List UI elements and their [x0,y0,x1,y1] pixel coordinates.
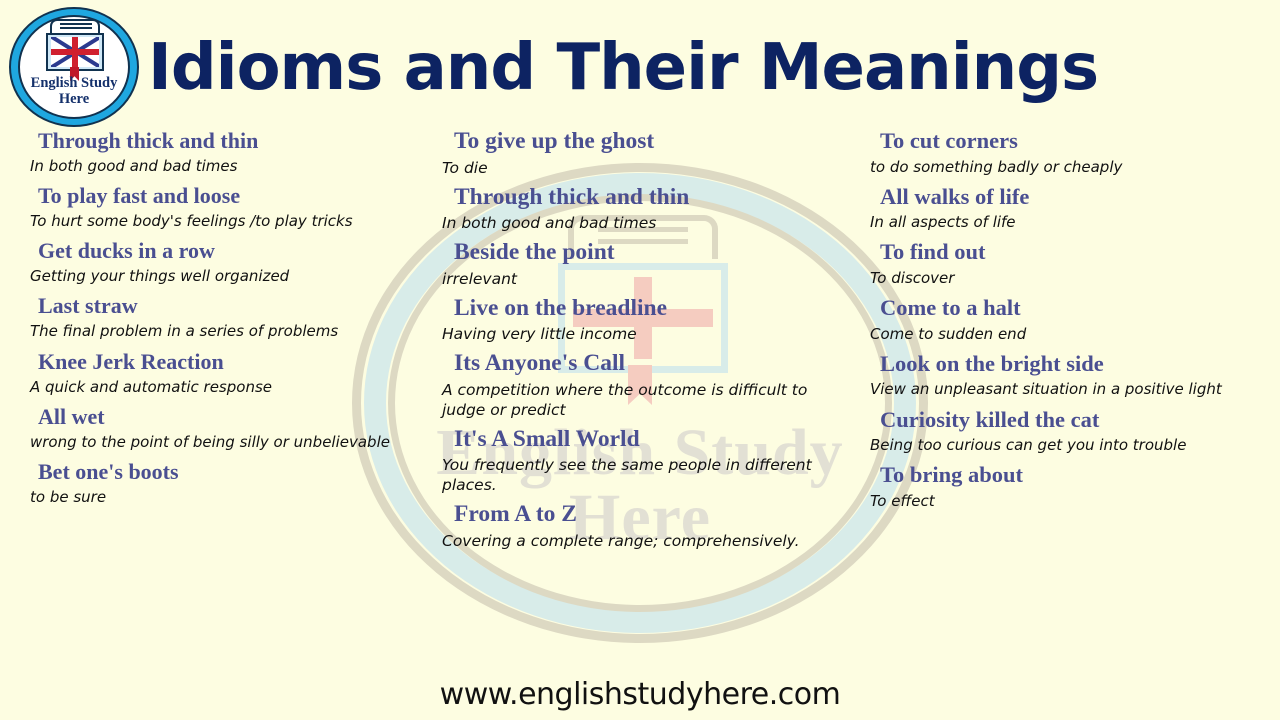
idiom-term: Bet one's boots [30,459,424,485]
page-title: Idioms and Their Meanings [148,36,1098,100]
idiom-entry: Get ducks in a rowGetting your things we… [30,238,424,291]
idiom-entry: Knee Jerk ReactionA quick and automatic … [30,349,424,402]
idiom-term: All wet [30,404,424,430]
idiom-meaning: View an unpleasant situation in a positi… [870,377,1274,404]
idiom-term: Get ducks in a row [30,238,424,264]
idiom-column-1: Through thick and thinIn both good and b… [0,128,430,673]
idiom-term: To bring about [870,462,1274,489]
idiom-meaning: To hurt some body's feelings /to play tr… [30,209,424,236]
idiom-meaning: To effect [870,489,1274,516]
footer-website[interactable]: www.englishstudyhere.com [0,677,1280,712]
idiom-term: Beside the point [442,239,854,267]
idiom-term: Last straw [30,293,424,319]
idiom-term: It's A Small World [442,426,854,454]
idiom-meaning: In both good and bad times [30,154,424,181]
idiom-meaning: To discover [870,266,1274,293]
book-page-line [60,23,92,25]
idiom-meaning: You frequently see the same people in di… [442,453,854,501]
header: English Study Here Idioms and Their Mean… [0,0,1280,128]
book-cover [50,19,100,33]
idiom-meaning: to do something badly or cheaply [870,155,1274,182]
idiom-meaning: A competition where the outcome is diffi… [442,378,854,426]
idiom-entry: To give up the ghostTo die [442,128,854,184]
idiom-meaning: irrelevant [442,267,854,295]
idiom-term: Come to a halt [870,295,1274,322]
idiom-entry: Live on the breadlineHaving very little … [442,295,854,351]
idiom-meaning: To die [442,156,854,184]
idiom-term: Through thick and thin [30,128,424,154]
idiom-entry: All wetwrong to the point of being silly… [30,404,424,457]
logo-brand-line1: English Study [31,75,118,91]
idiom-entry: Its Anyone's CallA competition where the… [442,350,854,425]
idiom-term: To play fast and loose [30,183,424,209]
logo-brand-line2: Here [8,92,140,108]
idiom-term: All walks of life [870,184,1274,211]
idiom-entry: Last strawThe final problem in a series … [30,293,424,346]
book-page-line [60,27,92,29]
idiom-entry: Beside the pointirrelevant [442,239,854,295]
idiom-entry: From A to ZCovering a complete range; co… [442,501,854,557]
idiom-meaning: Being too curious can get you into troub… [870,433,1274,460]
idiom-entry: To find outTo discover [870,239,1274,293]
idiom-columns: Through thick and thinIn both good and b… [0,128,1280,673]
idiom-meaning: Getting your things well organized [30,264,424,291]
poster-root: English Study Here Engl [0,0,1280,720]
idiom-term: Look on the bright side [870,351,1274,378]
idiom-entry: Through thick and thinIn both good and b… [442,184,854,240]
flag-vertical-cross [72,37,78,67]
idiom-term: Curiosity killed the cat [870,407,1274,434]
idiom-meaning: to be sure [30,485,424,512]
idiom-term: Live on the breadline [442,295,854,323]
idiom-column-3: To cut cornersto do something badly or c… [860,128,1280,673]
idiom-entry: Come to a haltCome to sudden end [870,295,1274,349]
idiom-term: Knee Jerk Reaction [30,349,424,375]
idiom-term: Through thick and thin [442,184,854,212]
idiom-term: To find out [870,239,1274,266]
idiom-term: Its Anyone's Call [442,350,854,378]
idiom-term: From A to Z [442,501,854,529]
idiom-meaning: Having very little income [442,322,854,350]
idiom-term: To cut corners [870,128,1274,155]
idiom-entry: Curiosity killed the catBeing too curiou… [870,407,1274,461]
idiom-meaning: In both good and bad times [442,211,854,239]
idiom-meaning: The final problem in a series of problem… [30,319,424,346]
union-jack-icon [51,37,99,67]
idiom-meaning: In all aspects of life [870,210,1274,237]
idiom-meaning: Come to sudden end [870,322,1274,349]
idiom-term: To give up the ghost [442,128,854,156]
book-icon [42,19,108,77]
idiom-entry: To bring aboutTo effect [870,462,1274,516]
idiom-entry: It's A Small WorldYou frequently see the… [442,426,854,501]
idiom-entry: To play fast and looseTo hurt some body'… [30,183,424,236]
idiom-entry: Through thick and thinIn both good and b… [30,128,424,181]
idiom-meaning: Covering a complete range; comprehensive… [442,529,854,557]
idiom-entry: To cut cornersto do something badly or c… [870,128,1274,182]
idiom-meaning: A quick and automatic response [30,375,424,402]
idiom-column-2: To give up the ghostTo dieThrough thick … [430,128,860,673]
idiom-entry: Look on the bright sideView an unpleasan… [870,351,1274,405]
idiom-entry: All walks of lifeIn all aspects of life [870,184,1274,238]
logo-brand-text: English Study Here [8,76,140,108]
idiom-meaning: wrong to the point of being silly or unb… [30,430,424,457]
idiom-entry: Bet one's bootsto be sure [30,459,424,512]
brand-logo[interactable]: English Study Here [8,6,140,128]
